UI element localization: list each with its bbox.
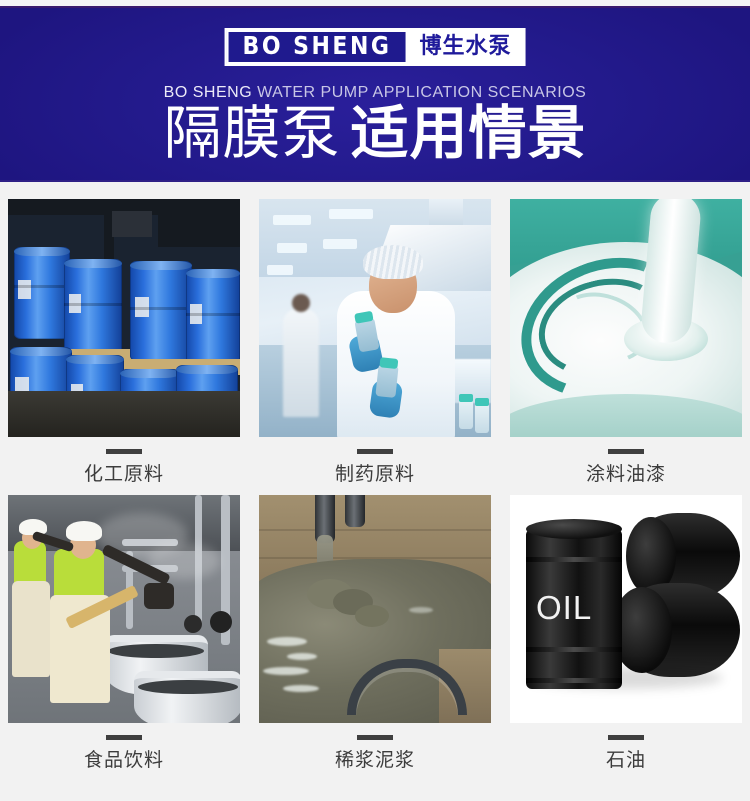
- scenario-card-pharma[interactable]: 制药原料: [259, 199, 491, 485]
- caption-text: 石油: [510, 750, 742, 771]
- pharmaceutical-lab-worker-photo: [259, 199, 491, 437]
- scenario-grid: 化工原料: [8, 199, 742, 771]
- caption-bar-icon: [106, 735, 142, 740]
- caption-text: 涂料油漆: [510, 464, 742, 485]
- logo-chinese-text: 博生水泵: [419, 36, 511, 58]
- scenario-card-oil[interactable]: OIL 石油: [510, 495, 742, 771]
- scenario-card-slurry[interactable]: 稀浆泥浆: [259, 495, 491, 771]
- banner-title-light: 隔膜泵: [163, 99, 340, 167]
- caption-bar-icon: [608, 735, 644, 740]
- caption: 食品饮料: [8, 735, 240, 771]
- logo-english-box: BO SHENG: [227, 30, 408, 64]
- slurry-mud-tank-photo: [259, 495, 491, 723]
- caption-bar-icon: [608, 449, 644, 454]
- banner-title-bold: 适用情景: [351, 99, 587, 167]
- banner: BO SHENG 博生水泵 BO SHENG WATER PUMP APPLIC…: [0, 8, 750, 182]
- scenario-card-chemical[interactable]: 化工原料: [8, 199, 240, 485]
- application-scenarios-page: BO SHENG 博生水泵 BO SHENG WATER PUMP APPLIC…: [0, 0, 750, 801]
- caption: 涂料油漆: [510, 449, 742, 485]
- caption-bar-icon: [106, 449, 142, 454]
- banner-bottom-rule: [0, 180, 750, 182]
- teal-paint-swirl-photo: [510, 199, 742, 437]
- caption: 稀浆泥浆: [259, 735, 491, 771]
- caption: 制药原料: [259, 449, 491, 485]
- scenario-card-paint[interactable]: 涂料油漆: [510, 199, 742, 485]
- caption-text: 食品饮料: [8, 750, 240, 771]
- blue-chemical-drums-photo: [8, 199, 240, 437]
- caption: 化工原料: [8, 449, 240, 485]
- caption-text: 化工原料: [8, 464, 240, 485]
- caption: 石油: [510, 735, 742, 771]
- oil-label: OIL: [536, 591, 592, 624]
- caption-bar-icon: [357, 735, 393, 740]
- logo-chinese-box: 博生水泵: [407, 30, 523, 64]
- scenario-card-food[interactable]: 食品饮料: [8, 495, 240, 771]
- brand-logo: BO SHENG 博生水泵: [225, 28, 526, 66]
- caption-bar-icon: [357, 449, 393, 454]
- logo-english-text: BO SHENG: [243, 34, 392, 59]
- food-beverage-processing-photo: [8, 495, 240, 723]
- caption-text: 稀浆泥浆: [259, 750, 491, 771]
- banner-title: 隔膜泵适用情景: [0, 104, 750, 162]
- black-oil-drums-photo: OIL: [510, 495, 742, 723]
- caption-text: 制药原料: [259, 464, 491, 485]
